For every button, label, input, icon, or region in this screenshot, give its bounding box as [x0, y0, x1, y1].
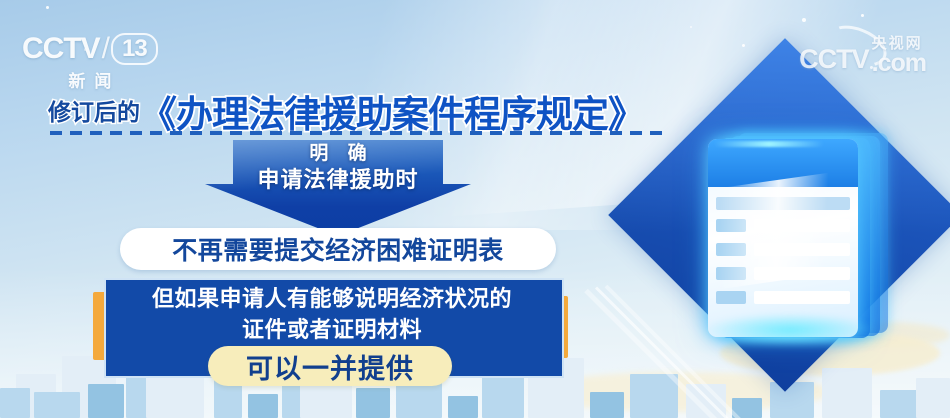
arrow-banner-text: 明 确 申请法律援助时	[205, 142, 471, 193]
headline: 修订后的《办理法律援助案件程序规定》	[48, 92, 644, 135]
cctv-com-logo: CCTV 央视网 .com	[799, 36, 926, 75]
headline-title: 办理法律援助案件程序规定	[176, 94, 608, 135]
blue-statement-text: 但如果申请人有能够说明经济状况的 证件或者证明材料	[104, 283, 560, 345]
cctv13-logo-slash: /	[102, 32, 109, 66]
cctv13-logo-number: 13	[111, 33, 158, 65]
conclusion-pill-text: 可以一并提供	[246, 347, 414, 386]
cctv13-logo: CCTV / 13 新闻	[22, 32, 158, 92]
cctv-com-logo-cctv: CCTV	[799, 44, 869, 75]
highlight-pill-text: 不再需要提交经济困难证明表	[172, 231, 504, 267]
arrow-banner-line1: 明 确	[205, 142, 471, 166]
headline-bracket-open: 《	[140, 94, 176, 135]
highlight-pill: 不再需要提交经济困难证明表	[120, 228, 556, 270]
document-front-page	[708, 139, 858, 337]
document-pages	[708, 133, 896, 343]
sparkle-dot	[46, 6, 49, 9]
headline-dashed-underline	[50, 131, 662, 135]
sparkle-dot	[742, 44, 745, 47]
blue-statement-line2: 证件或者证明材料	[104, 314, 560, 345]
cctv13-logo-subtitle: 新闻	[59, 67, 120, 92]
sparkle-dot	[690, 26, 692, 28]
document-stack-illustration	[598, 58, 950, 418]
cctv13-logo-cctv: CCTV	[22, 32, 100, 66]
headline-prefix: 修订后的	[48, 99, 140, 125]
headline-bracket-close: 》	[608, 94, 644, 135]
arrow-banner-line2: 申请法律援助时	[205, 167, 471, 193]
conclusion-pill: 可以一并提供	[208, 346, 452, 386]
blue-statement-line1: 但如果申请人有能够说明经济状况的	[104, 283, 560, 314]
sparkle-dot	[802, 18, 806, 22]
cctv-com-logo-domain: .com	[872, 51, 926, 75]
broadcast-graphic-screen: CCTV / 13 新闻 CCTV 央视网 .com 修订后的《办理法律援助案件…	[0, 0, 950, 418]
sparkle-dot	[861, 14, 864, 17]
